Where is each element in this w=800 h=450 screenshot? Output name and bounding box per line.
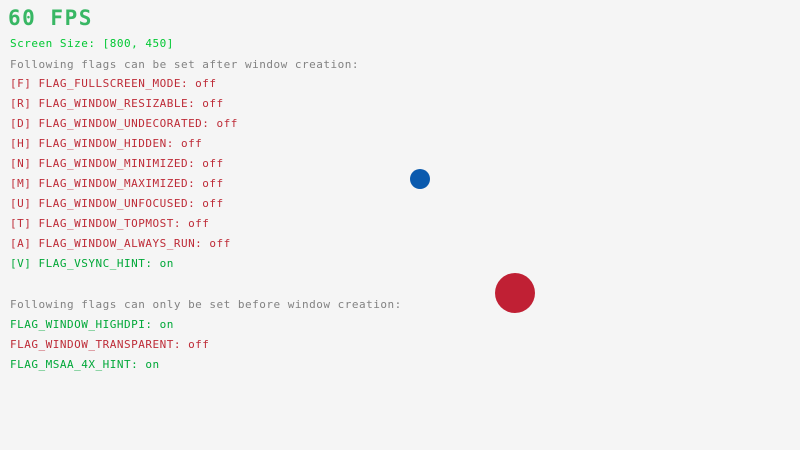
runtime-flag-row[interactable]: [U] FLAG_WINDOW_UNFOCUSED: off — [10, 198, 224, 209]
runtime-flags-heading: Following flags can be set after window … — [10, 59, 359, 70]
runtime-flag-row[interactable]: [N] FLAG_WINDOW_MINIMIZED: off — [10, 158, 224, 169]
creation-flag-row: FLAG_MSAA_4X_HINT: on — [10, 359, 160, 370]
runtime-flag-row[interactable]: [F] FLAG_FULLSCREEN_MODE: off — [10, 78, 217, 89]
screen-size-label: Screen Size: [800, 450] — [10, 38, 174, 49]
runtime-flag-row[interactable]: [D] FLAG_WINDOW_UNDECORATED: off — [10, 118, 238, 129]
runtime-flag-row[interactable]: [M] FLAG_WINDOW_MAXIMIZED: off — [10, 178, 224, 189]
runtime-flag-row[interactable]: [R] FLAG_WINDOW_RESIZABLE: off — [10, 98, 224, 109]
raylib-window-canvas[interactable]: 60 FPS Screen Size: [800, 450] Following… — [0, 0, 800, 450]
creation-flag-row: FLAG_WINDOW_HIGHDPI: on — [10, 319, 174, 330]
creation-flags-heading: Following flags can only be set before w… — [10, 299, 402, 310]
blue-circle-shape — [410, 169, 430, 189]
creation-flag-row: FLAG_WINDOW_TRANSPARENT: off — [10, 339, 209, 350]
runtime-flag-row[interactable]: [T] FLAG_WINDOW_TOPMOST: off — [10, 218, 209, 229]
runtime-flag-row[interactable]: [H] FLAG_WINDOW_HIDDEN: off — [10, 138, 202, 149]
hud-overlay: 60 FPS Screen Size: [800, 450] Following… — [0, 0, 800, 450]
runtime-flag-row[interactable]: [V] FLAG_VSYNC_HINT: on — [10, 258, 174, 269]
fps-counter: 60 FPS — [8, 8, 93, 29]
red-circle-shape — [495, 273, 535, 313]
runtime-flag-row[interactable]: [A] FLAG_WINDOW_ALWAYS_RUN: off — [10, 238, 231, 249]
